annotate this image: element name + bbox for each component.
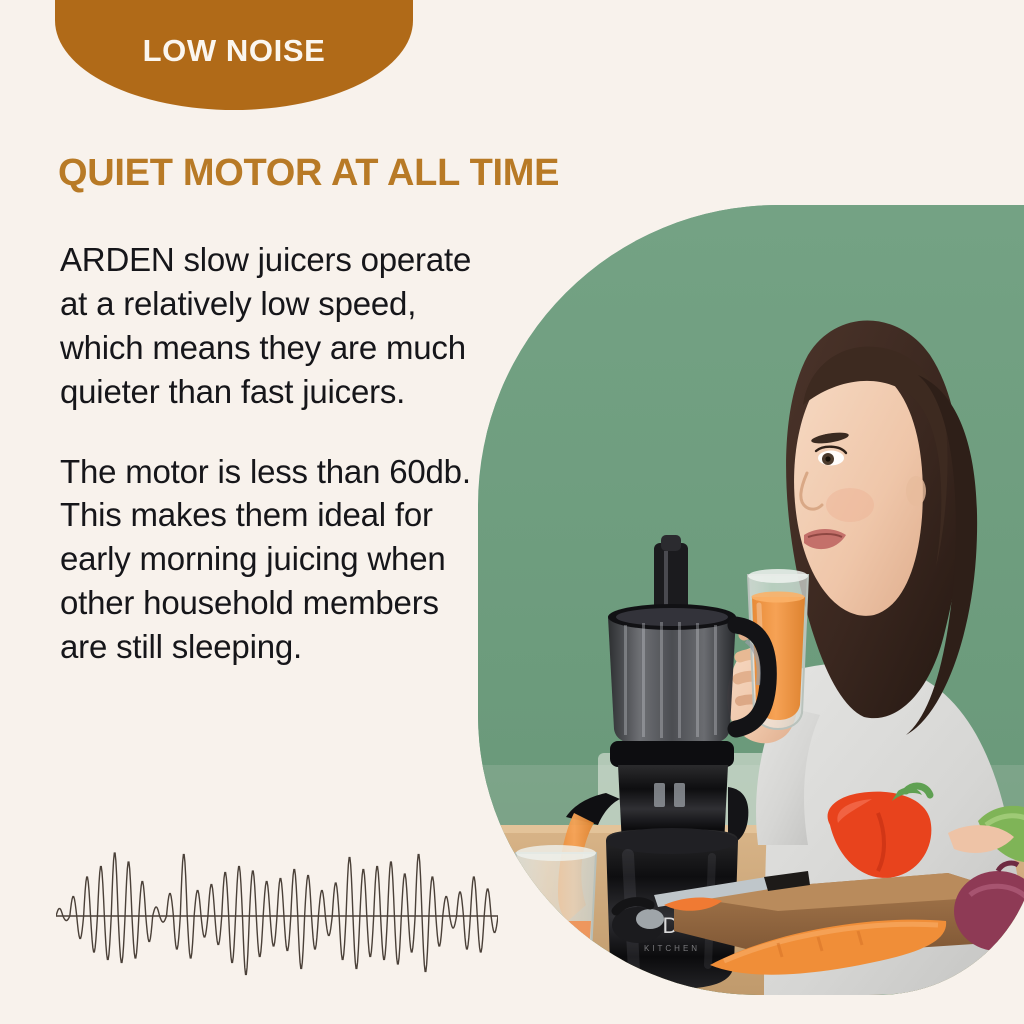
body-paragraph-2: The motor is less than 60db. This makes …	[60, 450, 480, 669]
photo-illustration: ARDEN KITCHEN	[478, 205, 1024, 995]
product-lifestyle-photo: ARDEN KITCHEN	[478, 205, 1024, 995]
svg-text:KITCHEN: KITCHEN	[644, 944, 700, 953]
badge-label: LOW NOISE	[143, 35, 326, 66]
waveform-svg	[56, 836, 498, 996]
sound-waveform	[56, 836, 498, 996]
body-paragraph-1: ARDEN slow juicers operate at a relative…	[60, 238, 480, 414]
waveform-trace	[56, 853, 498, 974]
infographic-canvas: LOW NOISE QUIET MOTOR AT ALL TIME ARDEN …	[0, 0, 1024, 1024]
page-title: QUIET MOTOR AT ALL TIME	[58, 153, 559, 195]
body-copy: ARDEN slow juicers operate at a relative…	[60, 238, 480, 669]
low-noise-badge: LOW NOISE	[55, 0, 413, 110]
